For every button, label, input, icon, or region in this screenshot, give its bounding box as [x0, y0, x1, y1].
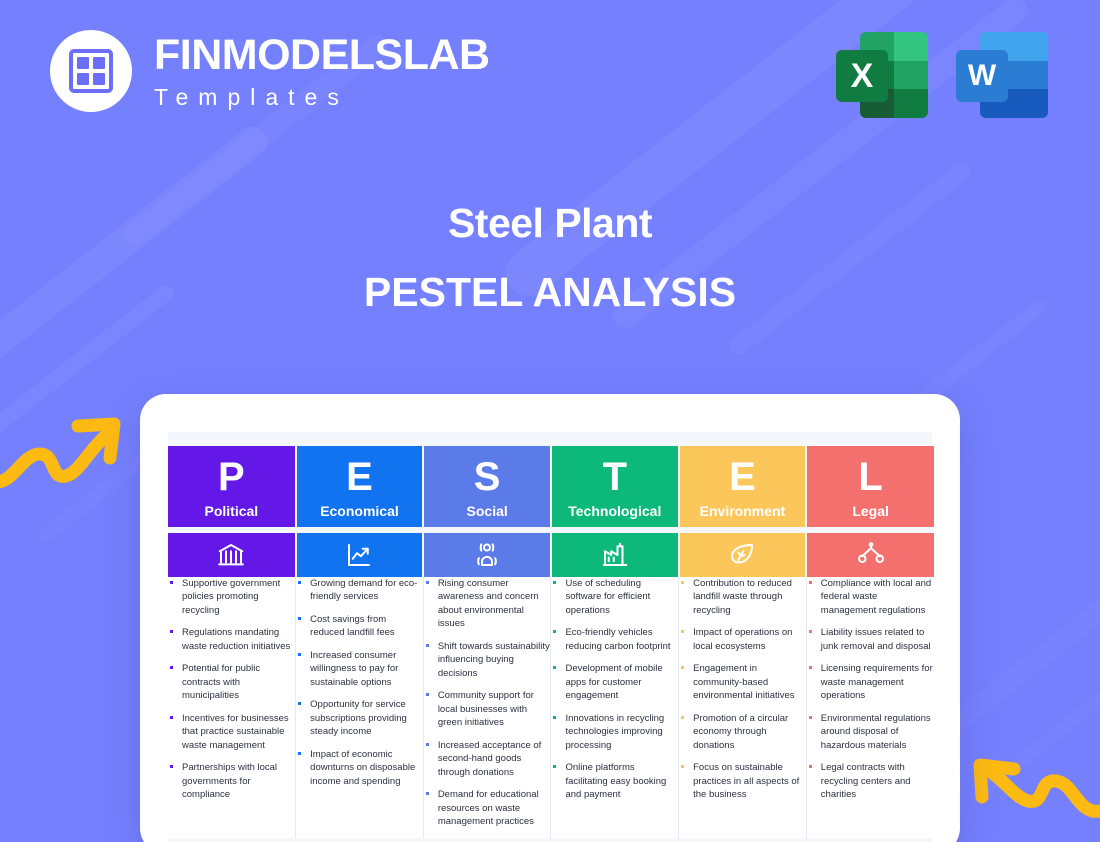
- people-group-icon: [472, 540, 502, 570]
- list-item: Liability issues related to junk removal…: [807, 626, 934, 653]
- pestel-header-social[interactable]: S Social: [423, 446, 551, 527]
- list-item-text: Licensing requirements for waste managem…: [821, 663, 933, 701]
- bullet-icon: [809, 765, 812, 768]
- list-item-text: Impact of operations on local ecosystems: [693, 627, 792, 651]
- list-item-text: Impact of economic downturns on disposab…: [310, 749, 415, 787]
- word-environment: Environment: [680, 503, 806, 527]
- list-item: Growing demand for eco-friendly services: [296, 577, 423, 604]
- list-item-text: Opportunity for service subscriptions pr…: [310, 699, 407, 737]
- points-list-social: Rising consumer awareness and concern ab…: [424, 577, 551, 829]
- list-item-text: Online platforms facilitating easy booki…: [565, 762, 666, 800]
- bullet-icon: [170, 666, 173, 669]
- list-item-text: Compliance with local and federal waste …: [821, 578, 931, 616]
- letter-economical: E: [297, 446, 423, 497]
- points-cell-technological: Use of scheduling software for efficient…: [551, 577, 679, 838]
- icon-cell-economical: [296, 533, 424, 577]
- list-item-text: Increased acceptance of second-hand good…: [438, 740, 542, 778]
- bullet-icon: [553, 765, 556, 768]
- list-item-text: Growing demand for eco-friendly services: [310, 578, 417, 602]
- icon-cell-legal: [806, 533, 934, 577]
- bullet-icon: [170, 581, 173, 584]
- list-item: Opportunity for service subscriptions pr…: [296, 698, 423, 738]
- icon-cell-social: [423, 533, 551, 577]
- bullet-icon: [681, 630, 684, 633]
- points-list-political: Supportive government policies promoting…: [168, 577, 295, 802]
- list-item: Online platforms facilitating easy booki…: [551, 761, 678, 801]
- icon-cell-environment: [679, 533, 807, 577]
- factory-icon: [600, 540, 630, 570]
- points-cell-political: Supportive government policies promoting…: [168, 577, 296, 838]
- points-list-environment: Contribution to reduced landfill waste t…: [679, 577, 806, 802]
- list-item-text: Use of scheduling software for efficient…: [565, 578, 650, 616]
- list-item-text: Engagement in community-based environmen…: [693, 663, 794, 701]
- pestel-header-row: P Political E Economical S Social T Tech…: [168, 446, 934, 527]
- points-list-economical: Growing demand for eco-friendly services…: [296, 577, 423, 788]
- bullet-icon: [809, 666, 812, 669]
- points-cell-environment: Contribution to reduced landfill waste t…: [679, 577, 807, 838]
- squiggly-arrow-up-right-icon: [0, 410, 122, 500]
- list-item: Legal contracts with recycling centers a…: [807, 761, 934, 801]
- bullet-icon: [553, 581, 556, 584]
- icon-cell-political: [168, 533, 296, 577]
- pestel-header-environment[interactable]: E Environment: [679, 446, 807, 527]
- pestel-header-economical[interactable]: E Economical: [296, 446, 424, 527]
- bullet-icon: [170, 765, 173, 768]
- bullet-icon: [426, 792, 429, 795]
- list-item: Community support for local businesses w…: [424, 689, 551, 729]
- list-item-text: Increased consumer willingness to pay fo…: [310, 650, 398, 688]
- pestel-icon-row: [168, 533, 934, 577]
- list-item: Potential for public contracts with muni…: [168, 662, 295, 702]
- line-chart-icon: [344, 540, 374, 570]
- bullet-icon: [553, 630, 556, 633]
- list-item-text: Eco-friendly vehicles reducing carbon fo…: [565, 627, 670, 651]
- list-item: Increased acceptance of second-hand good…: [424, 739, 551, 779]
- leaf-icon: [727, 540, 757, 570]
- bullet-icon: [553, 666, 556, 669]
- list-item-text: Demand for educational resources on wast…: [438, 789, 539, 827]
- points-list-legal: Compliance with local and federal waste …: [807, 577, 934, 802]
- letter-political: P: [168, 446, 295, 497]
- list-item: Use of scheduling software for efficient…: [551, 577, 678, 617]
- brand-text: FINMODELSLAB Templates: [154, 34, 490, 109]
- list-item: Licensing requirements for waste managem…: [807, 662, 934, 702]
- letter-legal: L: [807, 446, 934, 497]
- bullet-icon: [681, 716, 684, 719]
- list-item-text: Legal contracts with recycling centers a…: [821, 762, 911, 800]
- bullet-icon: [298, 653, 301, 656]
- points-list-technological: Use of scheduling software for efficient…: [551, 577, 678, 802]
- squiggly-arrow-down-left-icon: [962, 739, 1100, 836]
- page-title: Steel Plant: [0, 200, 1100, 247]
- list-item: Innovations in recycling technologies im…: [551, 712, 678, 752]
- bullet-icon: [809, 630, 812, 633]
- list-item: Eco-friendly vehicles reducing carbon fo…: [551, 626, 678, 653]
- list-item-text: Potential for public contracts with muni…: [182, 663, 260, 701]
- bullet-icon: [553, 716, 556, 719]
- list-item-text: Community support for local businesses w…: [438, 690, 534, 728]
- points-cell-legal: Compliance with local and federal waste …: [806, 577, 934, 838]
- list-item-text: Supportive government policies promoting…: [182, 578, 280, 616]
- page-subtitle: PESTEL ANALYSIS: [0, 269, 1100, 316]
- pestel-header-technological[interactable]: T Technological: [551, 446, 679, 527]
- word-legal: Legal: [807, 503, 934, 527]
- bullet-icon: [426, 581, 429, 584]
- list-item: Partnerships with local governments for …: [168, 761, 295, 801]
- list-item-text: Focus on sustainable practices in all as…: [693, 762, 799, 800]
- excel-icon: X: [834, 28, 928, 122]
- list-item: Shift towards sustainability influencing…: [424, 640, 551, 680]
- list-item-text: Regulations mandating waste reduction in…: [182, 627, 290, 651]
- points-cell-economical: Growing demand for eco-friendly services…: [296, 577, 424, 838]
- letter-technological: T: [552, 446, 678, 497]
- list-item: Promotion of a circular economy through …: [679, 712, 806, 752]
- points-cell-social: Rising consumer awareness and concern ab…: [423, 577, 551, 838]
- bullet-icon: [170, 716, 173, 719]
- pestel-body-row: Supportive government policies promoting…: [168, 577, 934, 838]
- brand-header: FINMODELSLAB Templates: [50, 30, 490, 112]
- list-item: Engagement in community-based environmen…: [679, 662, 806, 702]
- word-political: Political: [168, 503, 295, 527]
- office-format-icons: X W: [834, 28, 1048, 122]
- list-item-text: Shift towards sustainability influencing…: [438, 641, 550, 679]
- bullet-icon: [426, 693, 429, 696]
- list-item: Demand for educational resources on wast…: [424, 788, 551, 828]
- list-item: Focus on sustainable practices in all as…: [679, 761, 806, 801]
- word-economical: Economical: [297, 503, 423, 527]
- grid-window-icon: [69, 49, 113, 93]
- bullet-icon: [426, 743, 429, 746]
- bullet-icon: [426, 644, 429, 647]
- bullet-icon: [809, 716, 812, 719]
- brand-subtitle: Templates: [154, 86, 490, 109]
- list-item: Supportive government policies promoting…: [168, 577, 295, 617]
- word-social: Social: [424, 503, 550, 527]
- pestel-header-legal[interactable]: L Legal: [806, 446, 934, 527]
- list-item: Compliance with local and federal waste …: [807, 577, 934, 617]
- letter-environment: E: [680, 446, 806, 497]
- bullet-icon: [298, 702, 301, 705]
- list-item: Incentives for businesses that practice …: [168, 712, 295, 752]
- list-item: Rising consumer awareness and concern ab…: [424, 577, 551, 631]
- list-item: Environmental regulations around disposa…: [807, 712, 934, 752]
- list-item-text: Environmental regulations around disposa…: [821, 713, 931, 751]
- pestel-card: P Political E Economical S Social T Tech…: [140, 394, 960, 842]
- list-item-text: Development of mobile apps for customer …: [565, 663, 662, 701]
- list-item: Impact of economic downturns on disposab…: [296, 748, 423, 788]
- letter-social: S: [424, 446, 550, 497]
- bullet-icon: [681, 765, 684, 768]
- bullet-icon: [298, 617, 301, 620]
- icon-cell-technological: [551, 533, 679, 577]
- list-item-text: Incentives for businesses that practice …: [182, 713, 289, 751]
- list-item-text: Liability issues related to junk removal…: [821, 627, 931, 651]
- pestel-table: P Political E Economical S Social T Tech…: [168, 446, 934, 838]
- bullet-icon: [298, 752, 301, 755]
- bullet-icon: [681, 666, 684, 669]
- bullet-icon: [681, 581, 684, 584]
- pestel-header-political[interactable]: P Political: [168, 446, 296, 527]
- logo-badge: [50, 30, 132, 112]
- list-item: Impact of operations on local ecosystems: [679, 626, 806, 653]
- list-item-text: Rising consumer awareness and concern ab…: [438, 578, 539, 629]
- list-item-text: Promotion of a circular economy through …: [693, 713, 788, 751]
- list-item: Cost savings from reduced landfill fees: [296, 613, 423, 640]
- list-item-text: Cost savings from reduced landfill fees: [310, 614, 395, 638]
- brand-name: FINMODELSLAB: [154, 34, 490, 77]
- list-item-text: Innovations in recycling technologies im…: [565, 713, 664, 751]
- bullet-icon: [809, 581, 812, 584]
- list-item: Development of mobile apps for customer …: [551, 662, 678, 702]
- list-item-text: Contribution to reduced landfill waste t…: [693, 578, 792, 616]
- page-title-block: Steel Plant PESTEL ANALYSIS: [0, 200, 1100, 316]
- bullet-icon: [298, 581, 301, 584]
- list-item: Contribution to reduced landfill waste t…: [679, 577, 806, 617]
- pestel-sheet: P Political E Economical S Social T Tech…: [168, 432, 932, 842]
- word-technological: Technological: [552, 503, 678, 527]
- word-icon: W: [954, 28, 1048, 122]
- list-item: Regulations mandating waste reduction in…: [168, 626, 295, 653]
- list-item: Increased consumer willingness to pay fo…: [296, 649, 423, 689]
- bullet-icon: [170, 630, 173, 633]
- list-item-text: Partnerships with local governments for …: [182, 762, 277, 800]
- word-icon-letter: W: [956, 50, 1008, 102]
- bank-building-icon: [216, 540, 246, 570]
- scales-justice-icon: [856, 540, 886, 570]
- excel-icon-letter: X: [836, 50, 888, 102]
